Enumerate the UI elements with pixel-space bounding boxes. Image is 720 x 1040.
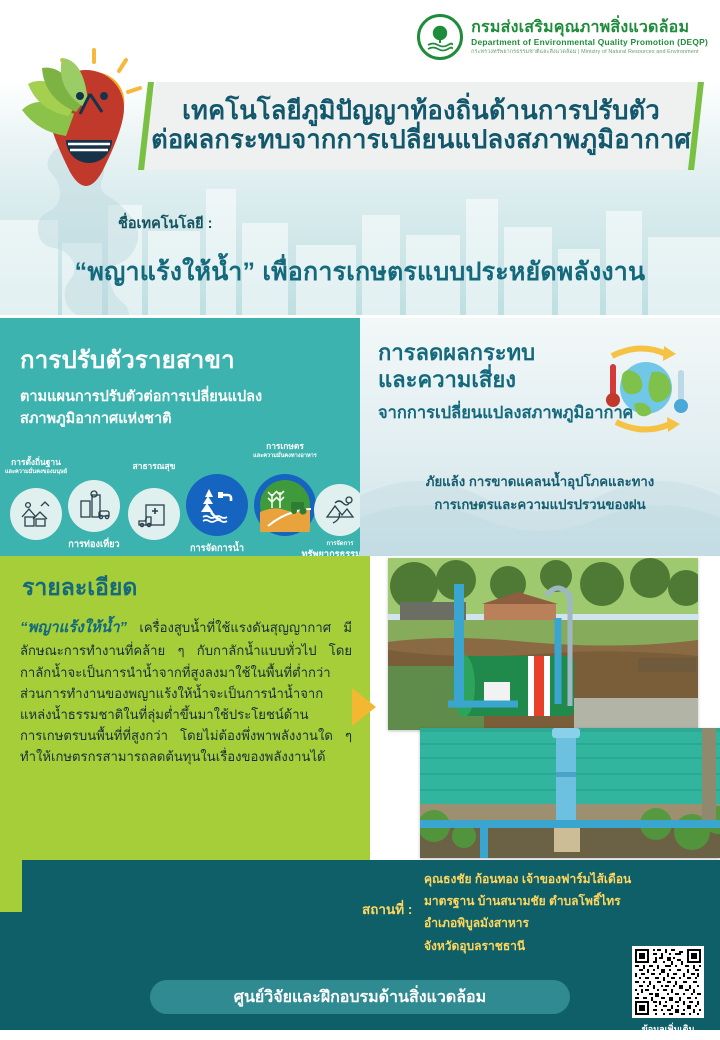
location-line-2: มาตรฐาน บ้านสนามชัย ตำบลโพธิ์ไทร xyxy=(424,890,654,912)
mitigation-risk-panel: การลดผลกระทบ และความเสี่ยง จากการเปลี่ยน… xyxy=(360,318,720,556)
details-lead: “พญาแร้งให้น้ำ” xyxy=(20,619,127,636)
vertical-pvc-pipe xyxy=(552,728,580,828)
photo-siphon-pump-barrel xyxy=(388,558,698,730)
green-accent-stub xyxy=(0,860,22,912)
location-line-1: คุณธงชัย ก้อนทอง เจ้าของฟาร์มไส้เดือน xyxy=(424,868,654,890)
arrow-right-icon xyxy=(352,688,376,726)
risk-line-1: ภัยแล้ง การขาดแคลนน้ำอุปโภคและทาง xyxy=(360,470,720,493)
location-label: สถานที่ : xyxy=(362,898,412,920)
agriculture-food-icon xyxy=(254,474,316,536)
details-heading: รายละเอียด xyxy=(22,570,370,606)
main-title-banner: เทคโนโลยีภูมิปัญญาท้องถิ่นด้านการปรับตัว… xyxy=(138,82,704,170)
mitigation-heading: การลดผลกระทบ และความเสี่ยง xyxy=(378,340,588,394)
adaptation-subheading-line1: ตามแผนการปรับตัวต่อการเปลี่ยนแปลง xyxy=(20,387,342,409)
location-line-3: อำเภอพิบูลมังสาหาร xyxy=(424,912,654,934)
organization-name: ศูนย์วิจัยและฝึกอบรมด้านสิ่งแวดล้อม xyxy=(234,985,486,1010)
location-lines: คุณธงชัย ก้อนทอง เจ้าของฟาร์มไส้เดือน มา… xyxy=(424,868,654,957)
deqp-logo: กรมส่งเสริมคุณภาพสิ่งแวดล้อม Department … xyxy=(417,14,708,60)
water-management-icon xyxy=(186,474,248,536)
qr-code-icon[interactable] xyxy=(632,946,704,1018)
qr-section: ข้อมูลเพิ่มเติม xyxy=(632,946,704,1036)
tree-water-seal-icon xyxy=(417,14,463,60)
tourism-icon xyxy=(68,480,120,532)
sector-natural-resource-caption: การจัดการ ทรัพยากรธรรมชาติ xyxy=(290,541,360,556)
risk-description: ภัยแล้ง การขาดแคลนน้ำอุปโภคและทาง การเกษ… xyxy=(360,470,720,516)
sector-water-caption: การจัดการน้ำ xyxy=(176,543,258,554)
lightbulb-leaf-pin-icon xyxy=(18,44,158,219)
location-line-4: จังหวัดอุบลราชธานี xyxy=(424,935,654,957)
sector-settlement[interactable]: การตั้งถิ่นฐาน และความมั่นคงของมนุษย์ xyxy=(10,488,62,540)
sector-public-health-caption: สาธารณสุข xyxy=(120,462,188,472)
sector-agriculture-caption: การเกษตร และความมั่นคงทางอาหาร xyxy=(248,442,322,459)
sector-water-management[interactable]: การจัดการน้ำ xyxy=(186,474,238,536)
mitigation-heading-line2: และความเสี่ยง xyxy=(378,367,516,392)
details-body: “พญาแร้งให้น้ำ” เครื่องสูบน้ำที่ใช้แรงดั… xyxy=(20,616,352,768)
blue-pvc-pipe-green-net-photo xyxy=(420,728,720,858)
red-thermometer-icon xyxy=(606,364,620,407)
adaptation-subheading: ตามแผนการปรับตัวต่อการเปลี่ยนแปลง สภาพภู… xyxy=(20,387,342,431)
blue-thermometer-icon xyxy=(674,370,688,413)
sector-natural-resource[interactable]: การจัดการ ทรัพยากรธรรมชาติ xyxy=(314,484,360,536)
ministry-name: กระทรวงทรัพยากรธรรมชาติและสิ่งแวดล้อม | … xyxy=(471,49,708,55)
risk-line-2: การเกษตรและความแปรปรวนของฝน xyxy=(360,493,720,516)
sector-tourism[interactable]: การท่องเที่ยว xyxy=(68,480,120,532)
sector-settlement-caption: การตั้งถิ่นฐาน และความมั่นคงของมนุษย์ xyxy=(4,458,68,475)
mitigation-heading-line1: การลดผลกระทบ xyxy=(378,340,535,365)
technology-name: “พญาแร้งให้น้ำ” เพื่อการเกษตรแบบประหยัดพ… xyxy=(0,252,720,292)
agency-name-th: กรมส่งเสริมคุณภาพสิ่งแวดล้อม xyxy=(471,19,708,37)
settlement-security-icon xyxy=(10,488,62,540)
farm-pond-green-barrel-photo xyxy=(388,558,698,730)
adaptation-subheading-line2: สภาพภูมิอากาศแห่งชาติ xyxy=(20,409,342,431)
deqp-logo-text: กรมส่งเสริมคุณภาพสิ่งแวดล้อม Department … xyxy=(471,19,708,55)
sector-tourism-caption: การท่องเที่ยว xyxy=(57,539,131,550)
photo-pvc-pipe-outlet xyxy=(420,728,720,858)
organization-pill[interactable]: ศูนย์วิจัยและฝึกอบรมด้านสิ่งแวดล้อม xyxy=(150,980,570,1014)
public-health-icon xyxy=(128,488,180,540)
sector-public-health[interactable]: สาธารณสุข xyxy=(128,488,180,540)
title-text-group: เทคโนโลยีภูมิปัญญาท้องถิ่นด้านการปรับตัว… xyxy=(138,82,704,170)
title-line-1: เทคโนโลยีภูมิปัญญาท้องถิ่นด้านการปรับตัว xyxy=(182,98,660,126)
details-body-text: เครื่องสูบน้ำที่ใช้แรงดันสุญญากาศ มีลักษ… xyxy=(20,620,352,764)
sector-icons-row: การตั้งถิ่นฐาน และความมั่นคงของมนุษย์ xyxy=(6,466,358,550)
adaptation-heading: การปรับตัวรายสาขา xyxy=(20,340,360,379)
natural-resource-icon xyxy=(314,484,360,536)
globe-thermometer-icon xyxy=(590,342,698,439)
qr-caption: ข้อมูลเพิ่มเติม xyxy=(632,1022,704,1036)
details-panel: รายละเอียด “พญาแร้งให้น้ำ” เครื่องสูบน้ำ… xyxy=(0,556,370,860)
poster-root: กรมส่งเสริมคุณภาพสิ่งแวดล้อม Department … xyxy=(0,0,720,1040)
title-line-2: ต่อผลกระทบจากการเปลี่ยนแปลงสภาพภูมิอากาศ xyxy=(151,127,691,155)
sector-agriculture[interactable]: การเกษตร และความมั่นคงทางอาหาร xyxy=(254,474,306,536)
technology-label: ชื่อเทคโนโลยี : xyxy=(118,212,213,235)
agency-name-en: Department of Environmental Quality Prom… xyxy=(471,38,708,47)
adaptation-sectors-panel: การปรับตัวรายสาขา ตามแผนการปรับตัวต่อการ… xyxy=(0,318,360,556)
